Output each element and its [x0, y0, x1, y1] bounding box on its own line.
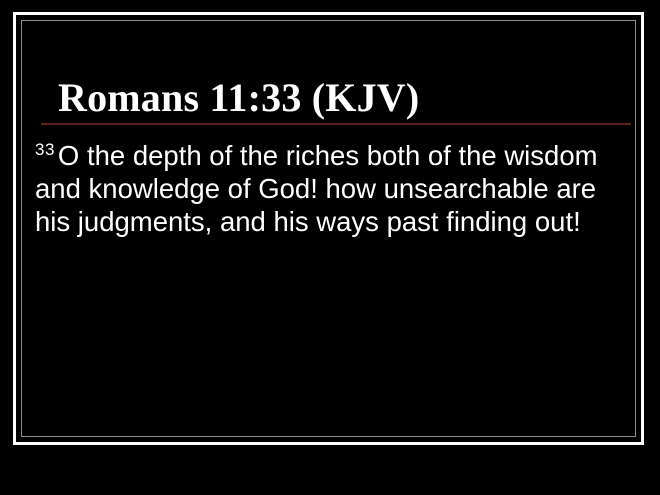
- slide-content-area: Romans 11:33 (KJV) 33O the depth of the …: [16, 15, 647, 448]
- verse-number-superscript: 33: [35, 140, 58, 159]
- slide-title: Romans 11:33 (KJV): [58, 75, 618, 121]
- scripture-body-text: 33O the depth of the riches both of the …: [35, 139, 635, 238]
- verse-body-text: O the depth of the riches both of the wi…: [35, 140, 598, 237]
- title-divider-rule: [41, 123, 631, 125]
- presentation-slide: Romans 11:33 (KJV) 33O the depth of the …: [0, 0, 660, 495]
- slide-outer-border: Romans 11:33 (KJV) 33O the depth of the …: [13, 12, 644, 445]
